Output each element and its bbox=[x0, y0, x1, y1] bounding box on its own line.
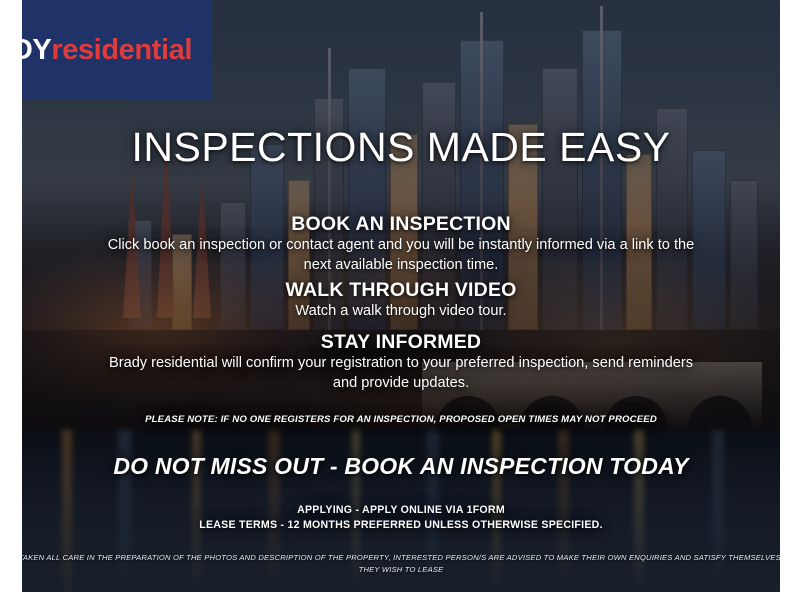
section-book-an-inspection: BOOK AN INSPECTION Click book an inspect… bbox=[22, 212, 780, 275]
section-body: Click book an inspection or contact agen… bbox=[22, 236, 780, 275]
section-heading: STAY INFORMED bbox=[22, 330, 780, 354]
disclaimer-line-1: TY LTD HAS TAKEN ALL CARE IN THE PREPARA… bbox=[22, 553, 780, 562]
brady-residential-logo[interactable]: DYresidential bbox=[22, 0, 212, 100]
section-stay-informed: STAY INFORMED Brady residential will con… bbox=[22, 330, 780, 393]
hero-background-image: DYresidential INSPECTIONS MADE EASY BOOK… bbox=[22, 0, 780, 592]
disclaimer-line-2: THEY WISH TO LEASE bbox=[22, 564, 780, 576]
section-heading: BOOK AN INSPECTION bbox=[22, 212, 780, 236]
section-walk-through-video: WALK THROUGH VIDEO Watch a walk through … bbox=[22, 278, 780, 322]
logo-brand-secondary: residential bbox=[51, 34, 192, 66]
lease-terms-line: LEASE TERMS - 12 MONTHS PREFERRED UNLESS… bbox=[22, 518, 780, 533]
legal-disclaimer: TY LTD HAS TAKEN ALL CARE IN THE PREPARA… bbox=[22, 552, 780, 576]
please-note-text: PLEASE NOTE: IF NO ONE REGISTERS FOR AN … bbox=[22, 414, 780, 425]
section-body: Brady residential will confirm your regi… bbox=[22, 354, 780, 393]
section-body: Watch a walk through video tour. bbox=[22, 302, 780, 322]
section-heading: WALK THROUGH VIDEO bbox=[22, 278, 780, 302]
logo-brand-primary: DY bbox=[22, 34, 51, 66]
apply-info-block: APPLYING - APPLY ONLINE VIA 1FORM LEASE … bbox=[22, 503, 780, 534]
call-to-action-text: DO NOT MISS OUT - BOOK AN INSPECTION TOD… bbox=[22, 453, 780, 480]
page-title: INSPECTIONS MADE EASY bbox=[22, 125, 780, 170]
banner-page: DYresidential INSPECTIONS MADE EASY BOOK… bbox=[0, 0, 800, 600]
applying-line: APPLYING - APPLY ONLINE VIA 1FORM bbox=[22, 503, 780, 518]
